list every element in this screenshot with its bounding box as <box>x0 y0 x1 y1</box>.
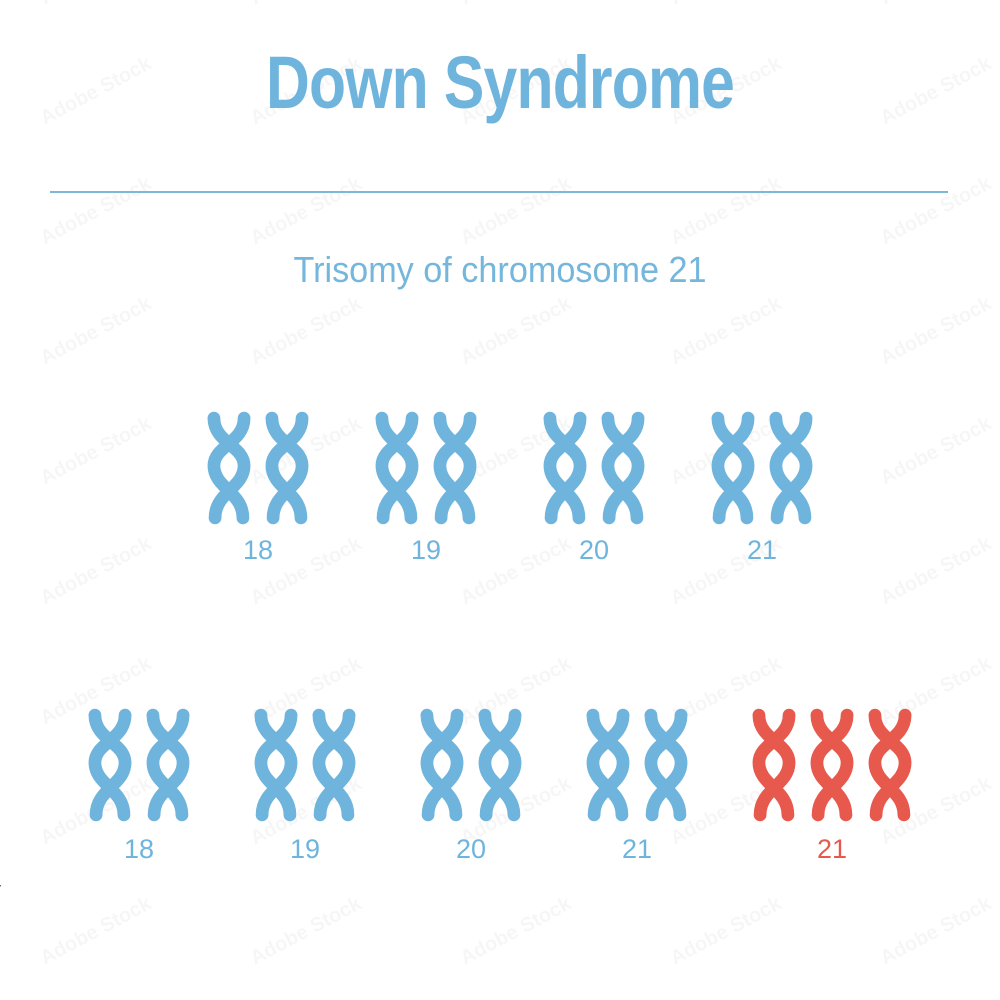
chromosome-icon <box>745 703 803 827</box>
normal-karyotype-row: 18192021 <box>0 408 1000 564</box>
page-title: Down Syndrome <box>90 46 910 120</box>
chromosome-icon <box>139 703 197 827</box>
watermark-tile: Adobe Stock <box>247 293 366 371</box>
chromosome-group-21-normal: 21 <box>579 703 695 863</box>
watermark-tile: Adobe Stock <box>37 0 156 10</box>
chromosome-set <box>200 408 316 528</box>
watermark-tile: Adobe Stock <box>877 0 996 10</box>
watermark-tile: Adobe Stock <box>667 0 786 10</box>
chromosome-icon <box>861 703 919 827</box>
chromosome-set <box>247 703 363 827</box>
watermark-tile: Adobe Stock <box>37 173 156 251</box>
chromosome-icon <box>368 408 426 528</box>
chromosome-group-20-normal: 20 <box>536 408 652 564</box>
watermark-tile: Adobe Stock <box>877 173 996 251</box>
chromosome-label: 19 <box>411 536 441 564</box>
chromosome-icon <box>247 703 305 827</box>
chromosome-label: 21 <box>747 536 777 564</box>
chromosome-icon <box>579 703 637 827</box>
chromosome-icon <box>637 703 695 827</box>
watermark-tile: Adobe Stock <box>457 293 576 371</box>
chromosome-set <box>704 408 820 528</box>
trisomy-karyotype-row: 1819202121 <box>0 703 1000 863</box>
header-divider <box>50 191 948 193</box>
chromosome-set <box>579 703 695 827</box>
chromosome-icon <box>258 408 316 528</box>
chromosome-label: 18 <box>124 835 154 863</box>
chromosome-icon <box>200 408 258 528</box>
watermark-tile: Adobe Stock <box>457 0 576 10</box>
chromosome-icon <box>81 703 139 827</box>
watermark-tile: Adobe Stock <box>457 173 576 251</box>
watermark-tile: Adobe Stock <box>247 0 366 10</box>
watermark-tile: Adobe Stock <box>457 893 576 971</box>
chromosome-icon <box>426 408 484 528</box>
chromosome-set <box>413 703 529 827</box>
watermark-tile: Adobe Stock <box>247 893 366 971</box>
chromosome-group-18-normal: 18 <box>200 408 316 564</box>
chromosome-icon <box>305 703 363 827</box>
watermark-tile: Adobe Stock <box>247 173 366 251</box>
page-subtitle: Trisomy of chromosome 21 <box>25 250 975 290</box>
chromosome-icon <box>536 408 594 528</box>
chromosome-group-19-normal: 19 <box>368 408 484 564</box>
chromosome-icon <box>704 408 762 528</box>
chromosome-group-19-normal: 19 <box>247 703 363 863</box>
chromosome-icon <box>594 408 652 528</box>
chromosome-label: 19 <box>290 835 320 863</box>
chromosome-label: 18 <box>243 536 273 564</box>
chromosome-label: 20 <box>456 835 486 863</box>
chromosome-group-21-normal: 21 <box>704 408 820 564</box>
chromosome-label: 21 <box>817 835 847 863</box>
chromosome-icon <box>762 408 820 528</box>
chromosome-icon <box>803 703 861 827</box>
chromosome-label: 21 <box>622 835 652 863</box>
watermark-tile: Adobe Stock <box>667 293 786 371</box>
poster-canvas: Adobe StockAdobe StockAdobe StockAdobe S… <box>0 0 1000 1000</box>
stock-watermark-label: Adobe Stock | #249373323 <box>0 790 2 983</box>
chromosome-group-20-normal: 20 <box>413 703 529 863</box>
chromosome-set <box>536 408 652 528</box>
watermark-tile: Adobe Stock <box>667 893 786 971</box>
chromosome-set <box>368 408 484 528</box>
watermark-tile: Adobe Stock <box>37 293 156 371</box>
chromosome-set <box>745 703 919 827</box>
chromosome-group-18-normal: 18 <box>81 703 197 863</box>
watermark-tile: Adobe Stock <box>877 293 996 371</box>
chromosome-group-21-trisomy: 21 <box>745 703 919 863</box>
watermark-tile: Adobe Stock <box>667 173 786 251</box>
chromosome-label: 20 <box>579 536 609 564</box>
watermark-tile: Adobe Stock <box>37 893 156 971</box>
chromosome-icon <box>413 703 471 827</box>
chromosome-set <box>81 703 197 827</box>
chromosome-icon <box>471 703 529 827</box>
watermark-tile: Adobe Stock <box>877 893 996 971</box>
